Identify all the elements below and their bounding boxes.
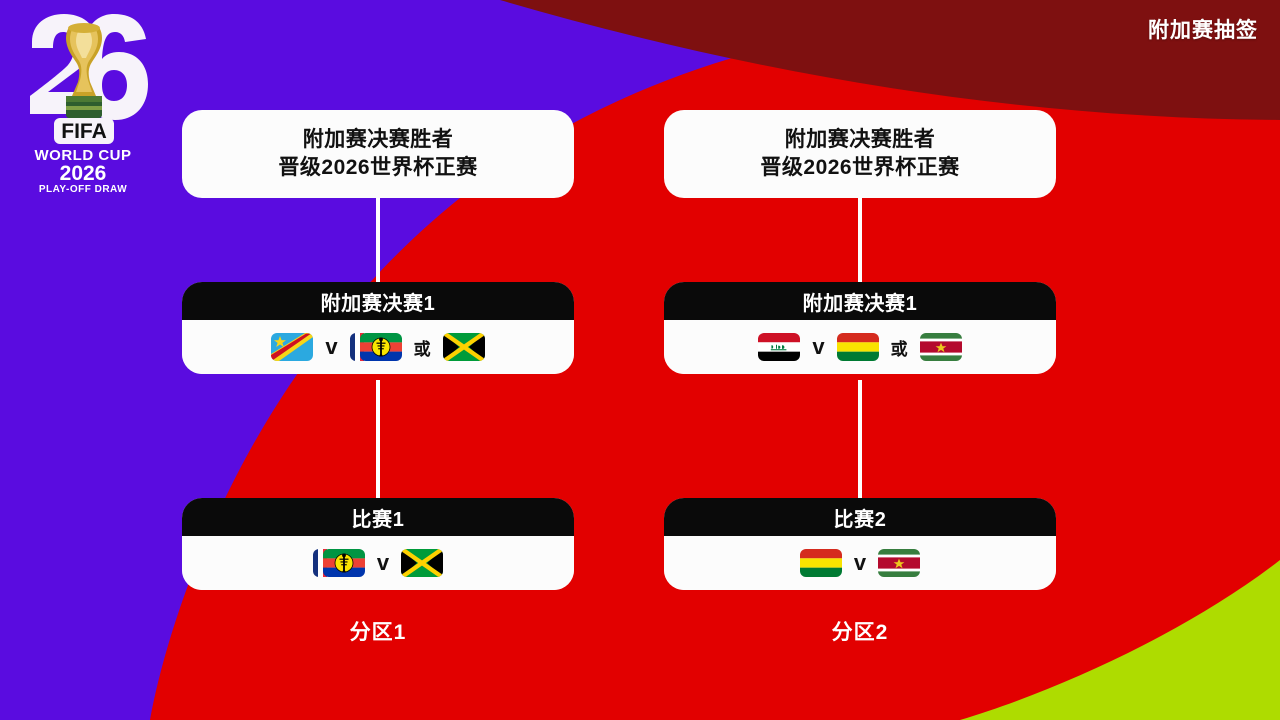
connector-semifinal-to-final-1: [376, 380, 380, 502]
flag-iq-iraq: [758, 333, 800, 361]
connector-final-to-qualifier-1: [376, 198, 380, 290]
flag-cd-congo-dr: [271, 333, 313, 361]
versus-label: v: [812, 336, 824, 358]
semifinal-card-2[interactable]: 比赛2 v: [664, 498, 1056, 590]
flag-pair-nc-semifinal: [313, 549, 365, 577]
playoff-final-card-1[interactable]: 附加赛决赛1 v: [182, 282, 574, 374]
flag-jm-jamaica: [443, 333, 485, 361]
semifinal-matchup-2: v: [664, 536, 1056, 590]
flag-nc-new-caledonia: [323, 549, 365, 577]
flag-pair-nc: [350, 333, 402, 361]
flag-nc-new-caledonia: [360, 333, 402, 361]
logo-fifa-text: FIFA: [61, 120, 107, 143]
or-label: 或: [414, 335, 431, 360]
flag-sr-suriname: [920, 333, 962, 361]
page-title: 附加赛抽签: [1148, 14, 1258, 44]
semifinal-card-1[interactable]: 比赛1: [182, 498, 574, 590]
flag-sr-suriname: [878, 549, 920, 577]
semifinal-title-2: 比赛2: [664, 498, 1056, 536]
semifinal-matchup-1: v: [182, 536, 574, 590]
playoff-final-title-2: 附加赛决赛1: [664, 282, 1056, 320]
fifa-world-cup-logo: FIFA WORLD CUP 2026 PLAY-OFF DRAW: [18, 8, 148, 193]
playoff-final-title-1: 附加赛决赛1: [182, 282, 574, 320]
qualifier-line2: 晋级2026世界杯正赛: [278, 154, 477, 182]
playoff-final-matchup-1: v: [182, 320, 574, 374]
connector-semifinal-to-final-2: [858, 380, 862, 502]
connector-final-to-qualifier-2: [858, 198, 862, 290]
qualifier-line1: 附加赛决赛胜者: [785, 126, 936, 154]
qualifier-line2: 晋级2026世界杯正赛: [760, 154, 959, 182]
semifinal-title-1: 比赛1: [182, 498, 574, 536]
playoff-final-matchup-2: v 或: [664, 320, 1056, 374]
qualifier-box-1: 附加赛决赛胜者 晋级2026世界杯正赛: [182, 110, 574, 198]
versus-label: v: [377, 552, 389, 574]
qualifier-line1: 附加赛决赛胜者: [303, 126, 454, 154]
flag-jm-jamaica: [401, 549, 443, 577]
or-label: 或: [891, 335, 908, 360]
flag-bo-bolivia: [800, 549, 842, 577]
versus-label: v: [325, 336, 337, 358]
region-label-2: 分区2: [664, 616, 1056, 646]
region-label-1: 分区1: [182, 616, 574, 646]
playoff-bracket: 附加赛决赛胜者 晋级2026世界杯正赛 附加赛决赛1 v: [0, 0, 1280, 720]
logo-year-text: 2026: [60, 162, 107, 185]
logo-event-text: PLAY-OFF DRAW: [39, 184, 127, 193]
qualifier-box-2: 附加赛决赛胜者 晋级2026世界杯正赛: [664, 110, 1056, 198]
versus-label: v: [854, 552, 866, 574]
flag-bo-bolivia: [837, 333, 879, 361]
playoff-final-card-2[interactable]: 附加赛决赛1 v: [664, 282, 1056, 374]
